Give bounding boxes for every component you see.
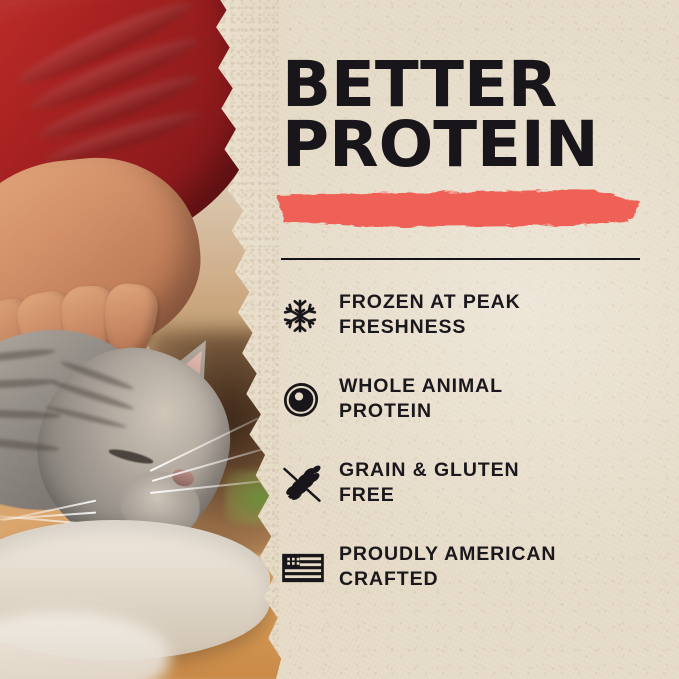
divider: [281, 258, 640, 260]
feature-list: FROZEN AT PEAK FRESHNESS WHOLE ANIMAL PR…: [281, 288, 673, 624]
list-item: FROZEN AT PEAK FRESHNESS: [281, 288, 673, 372]
list-item: PROUDLY AMERICAN CRAFTED: [281, 540, 673, 624]
meat-cut-icon: [281, 372, 339, 426]
list-item-label: GRAIN & GLUTEN FREE: [339, 456, 520, 509]
product-feature-banner: BETTER PROTEIN: [0, 0, 679, 679]
paper-content: BETTER PROTEIN: [0, 0, 679, 679]
list-item-label: FROZEN AT PEAK FRESHNESS: [339, 288, 521, 341]
snowflake-icon: [281, 288, 339, 342]
headline-line-1: BETTER: [282, 54, 670, 116]
page-title: BETTER PROTEIN: [282, 54, 670, 175]
list-item: GRAIN & GLUTEN FREE: [281, 456, 673, 540]
headline-line-2: PROTEIN: [282, 114, 670, 176]
list-item: WHOLE ANIMAL PROTEIN: [281, 372, 673, 456]
red-brush-stroke: [275, 188, 642, 228]
american-flag-icon: [281, 540, 339, 594]
wheat-crossed-out-icon: [281, 456, 339, 510]
list-item-label: PROUDLY AMERICAN CRAFTED: [339, 540, 556, 593]
list-item-label: WHOLE ANIMAL PROTEIN: [339, 372, 503, 425]
